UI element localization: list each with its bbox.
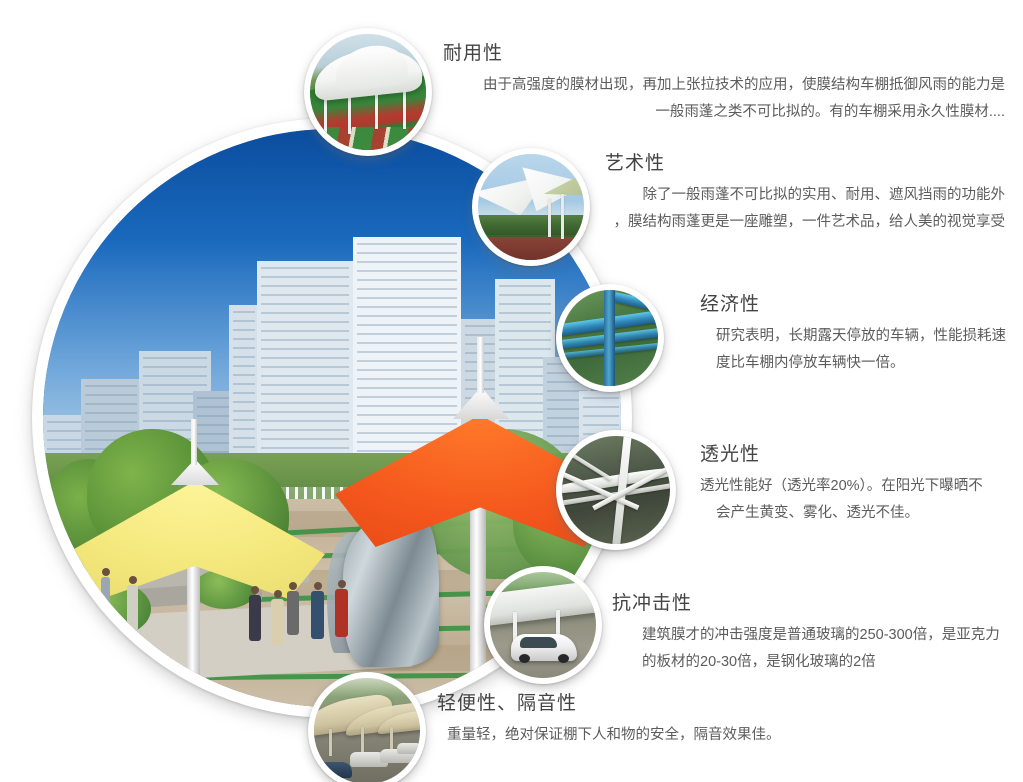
feature-text-artistry: 艺术性 除了一般雨蓬不可比拟的实用、耐用、遮风挡雨的功能外 ，膜结构雨蓬更是一座… — [605, 152, 1005, 235]
white-car-under-canopy-thumb[interactable] — [484, 566, 602, 684]
canopy-spire — [191, 419, 197, 465]
person — [335, 589, 348, 637]
feature-body-line: 一般雨蓬之类不可比拟的。有的车棚采用永久性膜材.... — [443, 99, 1005, 126]
feature-heading-economy: 经济性 — [700, 293, 1020, 317]
blue-steel-carport-thumb[interactable] — [556, 284, 664, 392]
canopy-mast-pole — [187, 559, 200, 677]
person — [287, 591, 299, 635]
feature-body-line: 会产生黄变、雾化、透光不佳。 — [700, 500, 1020, 527]
parked-car — [316, 762, 352, 778]
person — [101, 577, 110, 611]
feature-body-line: ，膜结构雨蓬更是一座雕塑，一件艺术品，给人美的视觉享受 — [605, 209, 1005, 236]
canopy-spire — [477, 337, 484, 393]
person — [249, 595, 261, 641]
beige-carport-parking-lot-thumb[interactable] — [308, 672, 426, 782]
feature-body-line: 重量轻，绝对保证棚下人和物的安全，隔音效果佳。 — [437, 722, 857, 749]
feature-heading-durability: 耐用性 — [443, 42, 1005, 66]
feature-body-line: 的板材的20-30倍，是钢化玻璃的2倍 — [612, 649, 1022, 676]
person — [127, 585, 138, 631]
feature-heading-artistry: 艺术性 — [605, 152, 1005, 176]
feature-text-impact-resistance: 抗冲击性 建筑膜才的冲击强度是普通玻璃的250-300倍，是亚克力 的板材的20… — [612, 592, 1022, 675]
white-membrane-sports-court-thumb[interactable] — [304, 28, 432, 156]
feature-heading-lightweight-soundproof: 轻便性、隔音性 — [437, 692, 857, 716]
feature-text-translucency: 透光性 透光性能好（透光率20%）。在阳光下曝晒不 会产生黄变、雾化、透光不佳。 — [700, 443, 1020, 526]
feature-text-lightweight-soundproof: 轻便性、隔音性 重量轻，绝对保证棚下人和物的安全，隔音效果佳。 — [437, 692, 857, 749]
feature-body-line: 建筑膜才的冲击强度是普通玻璃的250-300倍，是亚克力 — [612, 622, 1022, 649]
feature-heading-translucency: 透光性 — [700, 443, 1020, 467]
feature-body-line: 除了一般雨蓬不可比拟的实用、耐用、遮风挡雨的功能外 — [605, 182, 1005, 209]
white-sail-shade-thumb[interactable] — [472, 148, 590, 266]
infographic-canvas: 耐用性 由于高强度的膜材出现，再加上张拉技术的应用，使膜结构车棚抵御风雨的能力是… — [0, 0, 1023, 782]
person — [51, 581, 61, 619]
feature-body-line: 由于高强度的膜材出现，再加上张拉技术的应用，使膜结构车棚抵御风雨的能力是 — [443, 72, 1005, 99]
feature-body-line: 透光性能好（透光率20%）。在阳光下曝晒不 — [700, 473, 1020, 500]
canopy-mast-pole — [470, 499, 486, 689]
feature-text-economy: 经济性 研究表明，长期露天停放的车辆，性能损耗速 度比车棚内停放车辆快一倍。 — [700, 293, 1020, 376]
feature-text-durability: 耐用性 由于高强度的膜材出现，再加上张拉技术的应用，使膜结构车棚抵御风雨的能力是… — [443, 42, 1005, 125]
feature-body-line: 研究表明，长期露天停放的车辆，性能损耗速 — [700, 323, 1020, 350]
parked-car — [397, 743, 420, 755]
person — [311, 591, 324, 639]
person — [271, 599, 284, 645]
parked-car — [511, 634, 577, 662]
white-steel-frame-detail-thumb[interactable] — [556, 430, 676, 550]
feature-body-line: 度比车棚内停放车辆快一倍。 — [700, 350, 1020, 377]
feature-heading-impact-resistance: 抗冲击性 — [612, 592, 1022, 616]
